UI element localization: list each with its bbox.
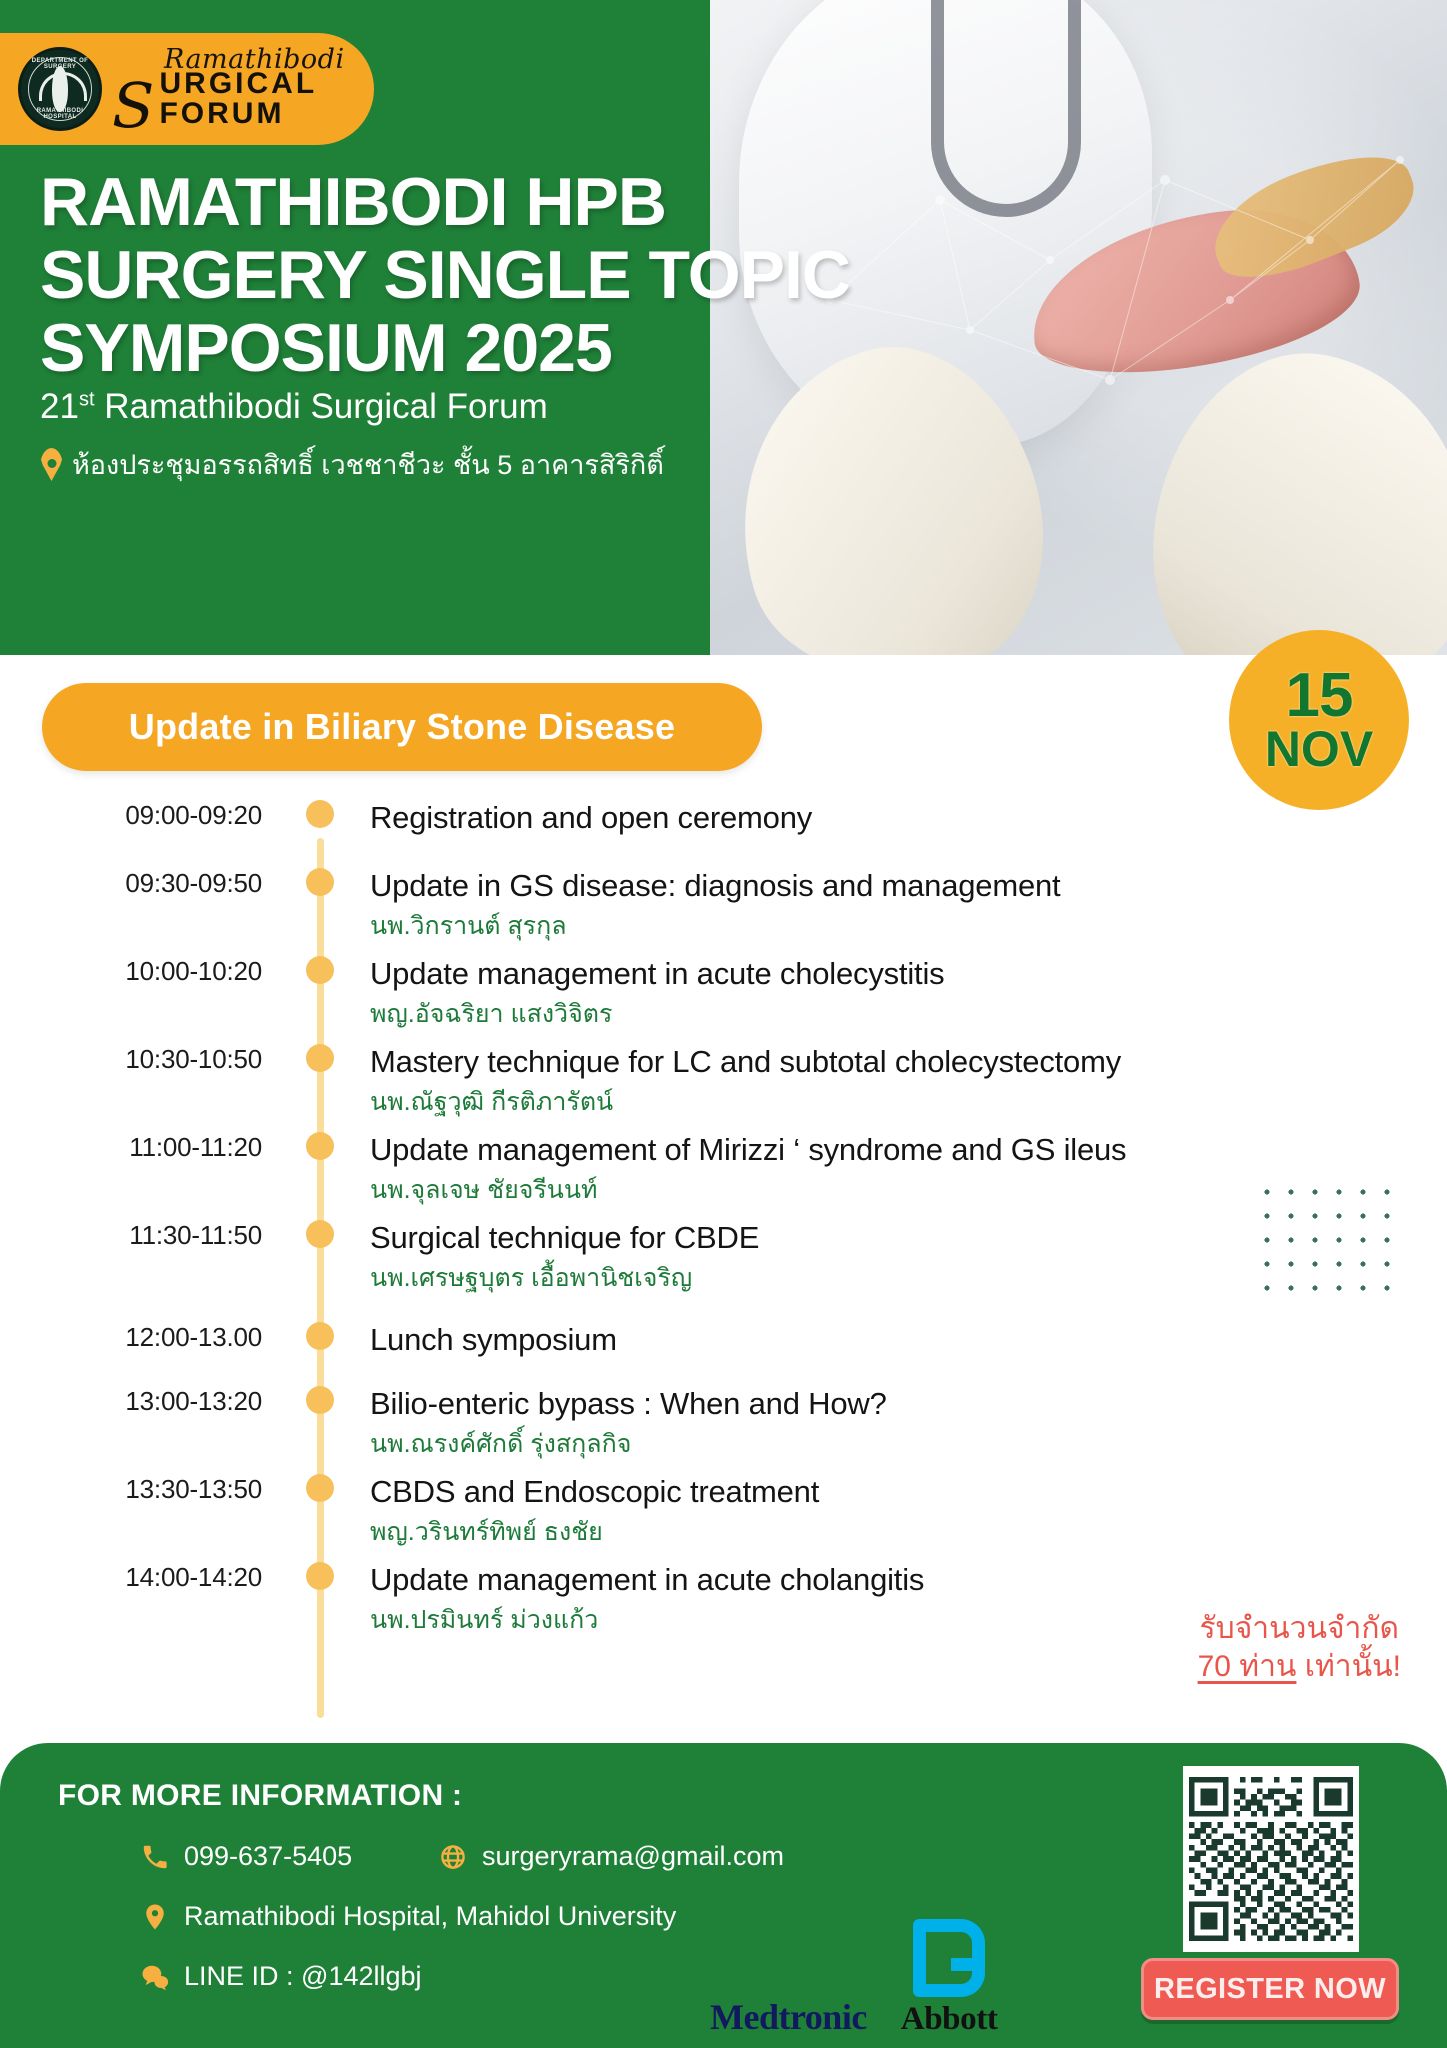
dot-grid-decoration [1255,1180,1395,1300]
schedule-body: Bilio-enteric bypass : When and How?นพ.ณ… [370,1386,887,1464]
schedule-title: Update management of Mirizzi ‘ syndrome … [370,1132,1126,1168]
schedule-row: 09:30-09:50Update in GS disease: diagnos… [0,868,1447,946]
schedule-body: Mastery technique for LC and subtotal ch… [370,1044,1121,1122]
footer-heading: FOR MORE INFORMATION : [58,1779,462,1813]
footer-phone-text[interactable]: 099-637-5405 [184,1841,352,1872]
subtitle-rest: Ramathibodi Surgical Forum [104,387,548,426]
footer-line-row: LINE ID : @142llgbj [140,1961,422,1992]
schedule-time: 10:30-10:50 [0,1044,290,1075]
footer-email-text[interactable]: surgeryrama@gmail.com [482,1841,784,1872]
department-seal-icon: DEPARTMENT OF SURGERY RAMATHIBODI HOSPIT… [18,47,102,131]
topic-banner-label: Update in Biliary Stone Disease [129,706,675,748]
schedule-time: 14:00-14:20 [0,1562,290,1593]
schedule-title: Update management in acute cholecystitis [370,956,944,992]
abbott-mark-icon [913,1919,985,1997]
timeline-dot [306,868,334,896]
schedule-speaker: นพ.ปรมินทร์ ม่วงแก้ว [370,1600,924,1640]
date-month: NOV [1265,726,1373,773]
sponsor-abbott-name: Abbott [901,2001,998,2038]
schedule-time: 09:00-09:20 [0,800,290,831]
schedule-row: 13:00-13:20Bilio-enteric bypass : When a… [0,1386,1447,1464]
schedule-time: 11:00-11:20 [0,1132,290,1163]
schedule-title: Update management in acute cholangitis [370,1562,924,1598]
schedule-body: Surgical technique for CBDEนพ.เศรษฐบุตร … [370,1220,759,1298]
schedule-row: 13:30-13:50CBDS and Endoscopic treatment… [0,1474,1447,1552]
title-line-3: SYMPOSIUM 2025 [40,312,850,385]
brand-word: URGICAL FORUM [159,69,374,129]
schedule-title: CBDS and Endoscopic treatment [370,1474,819,1510]
subtitle-ordinal: st [79,388,95,410]
date-day: 15 [1286,667,1353,725]
poster-root: DEPARTMENT OF SURGERY RAMATHIBODI HOSPIT… [0,0,1447,2048]
limited-line-2: 70 ท่าน เท่านั้น! [1198,1648,1401,1686]
timeline-dot [306,1322,334,1350]
schedule-body: CBDS and Endoscopic treatmentพญ.วรินทร์ท… [370,1474,819,1552]
limited-seats-notice: รับจำนวนจำกัด 70 ท่าน เท่านั้น! [1198,1610,1401,1685]
footer-phone-row: 099-637-5405 [140,1841,352,1872]
footer-section: FOR MORE INFORMATION : 099-637-5405 surg… [0,1743,1447,2048]
limited-seat-count: 70 ท่าน [1198,1650,1297,1683]
page-title: RAMATHIBODI HPB SURGERY SINGLE TOPIC SYM… [40,166,850,384]
footer-line-id-text[interactable]: LINE ID : @142llgbj [184,1961,422,1992]
sponsor-abbott-logo: Abbott [901,1919,998,2038]
schedule-title: Surgical technique for CBDE [370,1220,759,1256]
sponsor-logos: Medtronic Abbott [710,1919,997,2038]
register-now-button[interactable]: REGISTER NOW [1141,1958,1399,2020]
schedule-speaker: พญ.อัจฉริยา แสงวิจิตร [370,994,944,1034]
timeline-dot [306,1474,334,1502]
seal-emblem-icon [52,66,68,112]
venue-text: ห้องประชุมอรรถสิทธิ์ เวชชาชีวะ ชั้น 5 อา… [72,443,664,486]
map-pin-icon [40,448,63,481]
timeline-dot [306,1132,334,1160]
brand-s-letter: S [112,84,157,129]
schedule-time: 13:00-13:20 [0,1386,290,1417]
schedule-title: Lunch symposium [370,1322,617,1358]
schedule-row: 11:00-11:20Update management of Mirizzi … [0,1132,1447,1210]
schedule-speaker: นพ.เศรษฐบุตร เอื้อพานิชเจริญ [370,1258,759,1298]
qr-code-icon[interactable] [1183,1766,1359,1952]
timeline-dot [306,956,334,984]
schedule-time: 10:00-10:20 [0,956,290,987]
schedule-body: Update management in acute cholangitisนพ… [370,1562,924,1640]
subtitle-number: 21 [40,387,79,426]
schedule-speaker: นพ.วิกรานต์ สุรกุล [370,906,1060,946]
venue-line: ห้องประชุมอรรถสิทธิ์ เวชชาชีวะ ชั้น 5 อา… [40,443,664,486]
schedule-speaker: นพ.ณรงค์ศักดิ์ รุ่งสกุลกิจ [370,1424,887,1464]
subtitle: 21st Ramathibodi Surgical Forum [40,387,548,427]
schedule-time: 09:30-09:50 [0,868,290,899]
schedule-title: Registration and open ceremony [370,800,812,836]
schedule-row: 12:00-13.00Lunch symposium [0,1322,1447,1362]
footer-address-text: Ramathibodi Hospital, Mahidol University [184,1901,676,1932]
schedule-title: Mastery technique for LC and subtotal ch… [370,1044,1121,1080]
timeline-dot [306,1220,334,1248]
schedule-body: Update management in acute cholecystitis… [370,956,944,1034]
schedule-body: Lunch symposium [370,1322,617,1358]
schedule-body: Registration and open ceremony [370,800,812,836]
title-line-2: SURGERY SINGLE TOPIC [40,239,850,312]
footer-email-row: surgeryrama@gmail.com [438,1841,784,1872]
title-line-1: RAMATHIBODI HPB [40,166,850,239]
schedule-body: Update in GS disease: diagnosis and mana… [370,868,1060,946]
schedule-time: 12:00-13.00 [0,1322,290,1353]
timeline-dot [306,800,334,828]
topic-banner: Update in Biliary Stone Disease [42,683,762,771]
chat-bubbles-icon [140,1962,170,1992]
schedule-list: 09:00-09:20Registration and open ceremon… [0,800,1447,1640]
date-badge-circle: 15 NOV [1229,630,1409,810]
timeline-dot [306,1386,334,1414]
schedule-speaker: นพ.ณัฐวุฒิ กีรติภารัตน์ [370,1082,1121,1122]
schedule-row: 10:00-10:20Update management in acute ch… [0,956,1447,1034]
schedule-row: 10:30-10:50Mastery technique for LC and … [0,1044,1447,1122]
sponsor-medtronic-logo: Medtronic [710,1996,867,2038]
timeline-dot [306,1044,334,1072]
seal-bottom-text: RAMATHIBODI HOSPITAL [21,108,99,120]
brand-logo-pill: DEPARTMENT OF SURGERY RAMATHIBODI HOSPIT… [0,33,374,145]
limited-line-1: รับจำนวนจำกัด [1198,1610,1401,1648]
schedule-time: 13:30-13:50 [0,1474,290,1505]
timeline-dot [306,1562,334,1590]
brand-main-text: S URGICAL FORUM [112,69,374,129]
hero-section: DEPARTMENT OF SURGERY RAMATHIBODI HOSPIT… [0,0,1447,655]
register-now-label: REGISTER NOW [1154,1973,1386,2006]
schedule-body: Update management of Mirizzi ‘ syndrome … [370,1132,1126,1210]
schedule-title: Update in GS disease: diagnosis and mana… [370,868,1060,904]
schedule-title: Bilio-enteric bypass : When and How? [370,1386,887,1422]
schedule-row: 11:30-11:50Surgical technique for CBDEนพ… [0,1220,1447,1298]
schedule-speaker: พญ.วรินทร์ทิพย์ ธงชัย [370,1512,819,1552]
globe-icon [438,1842,468,1872]
map-pin-icon [140,1902,170,1932]
qr-code-svg [1189,1772,1353,1946]
schedule-time: 11:30-11:50 [0,1220,290,1251]
phone-icon [140,1842,170,1872]
limited-line-2-rest: เท่านั้น! [1296,1650,1401,1683]
date-badge: 15 NOV [1229,630,1409,810]
footer-address-row: Ramathibodi Hospital, Mahidol University [140,1901,676,1932]
schedule-speaker: นพ.จุลเจษ ชัยจรีนนท์ [370,1170,1126,1210]
brand-wordmark: Ramathibodi S URGICAL FORUM [112,46,374,133]
